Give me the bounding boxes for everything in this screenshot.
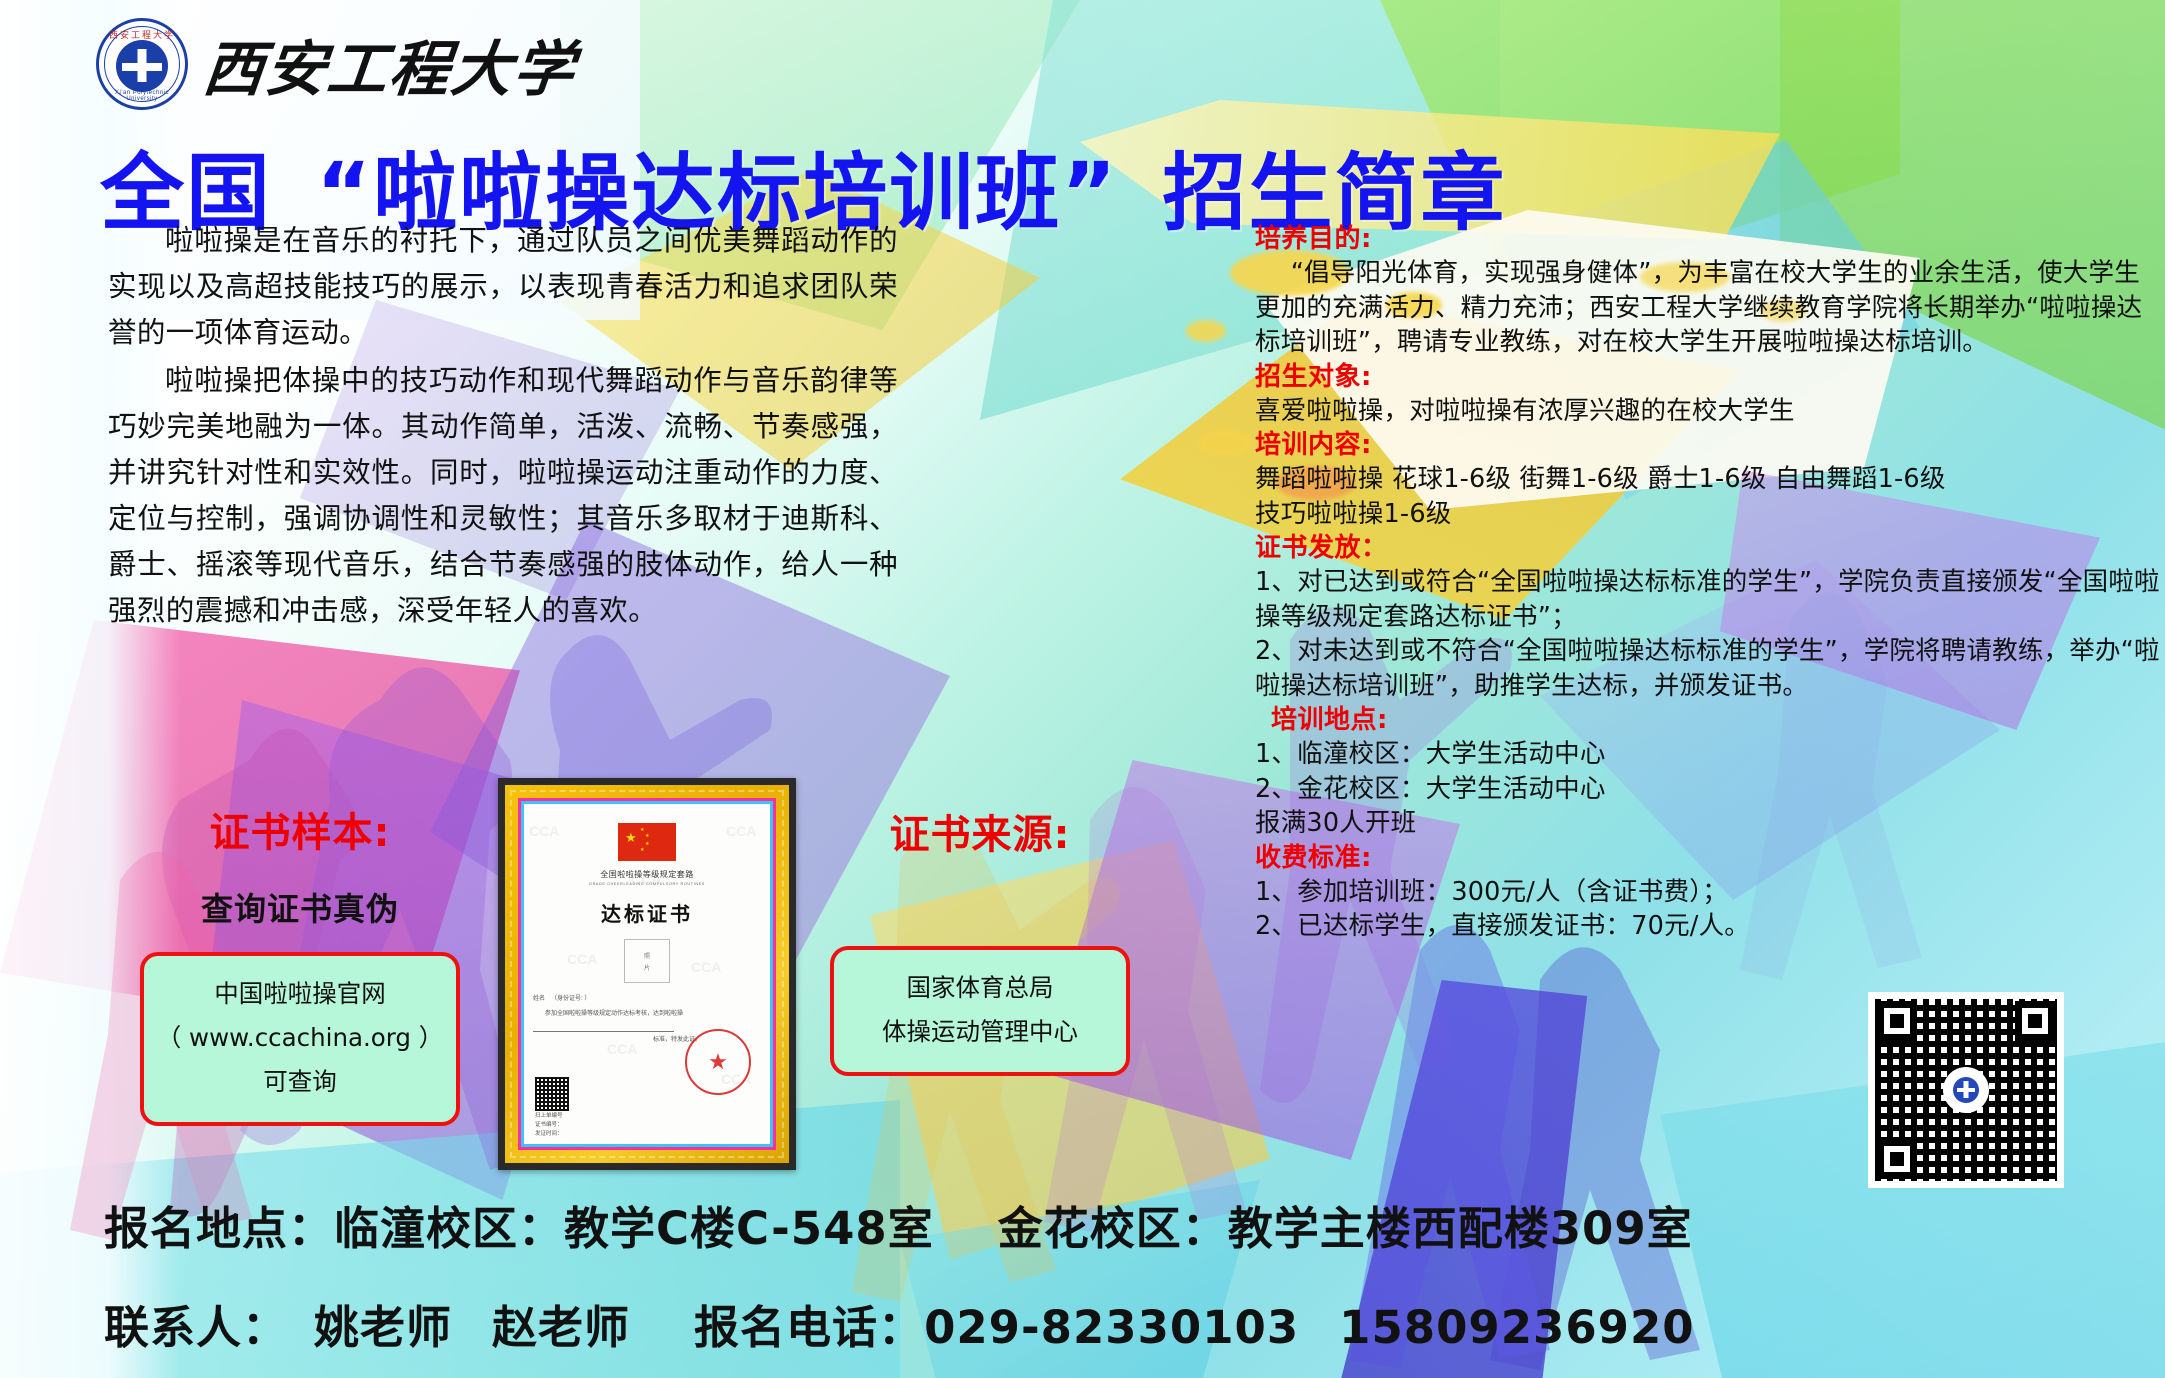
footer-phone-row: 联系人：姚老师赵老师报名电话：029-8233010315809236920 xyxy=(0,1291,2165,1356)
purpose-heading: 培养目的: xyxy=(1255,222,2165,256)
cert-footnotes: 扫上单编号 证书编号： 发证时间： xyxy=(535,1112,563,1139)
university-logo-row: 西安工程大学 Xi'an Polytechnic University 西安工程… xyxy=(96,18,576,110)
venue-note: 报满30人开班 xyxy=(1255,806,2165,841)
certificate-image: CCA CCA CCA CCA CCA CCA CCA ★ ★ ★ ★ ★ 全国… xyxy=(498,778,796,1170)
cert-watermark: CCA xyxy=(567,951,597,967)
cert-rule-line xyxy=(533,1031,674,1032)
phone-label: 报名电话： xyxy=(694,1291,924,1356)
venue-heading: 培训地点: xyxy=(1271,703,2165,737)
footer-signup-row: 报名地点：临潼校区：教学C楼C-548室金花校区：教学主楼西配楼309室 xyxy=(0,1192,2165,1257)
verify-site-name: 中国啦啦操官网 xyxy=(154,972,446,1016)
verify-site-note: 可查询 xyxy=(154,1060,446,1104)
certificate-source-box: 国家体育总局 体操运动管理中心 xyxy=(830,946,1130,1076)
certificate-verify-title: 查询证书真伪 xyxy=(140,884,460,930)
source-org-dept: 体操运动管理中心 xyxy=(844,1010,1116,1054)
intro-paragraph-2: 啦啦操把体操中的技巧动作和现代舞蹈动作与音乐韵律等巧妙完美地融为一体。其动作简单… xyxy=(108,358,898,634)
cert-description: 参加全国啦啦操等级规定动作达标考核，达到啦啦操 xyxy=(533,1008,761,1017)
cert-big-title: 达标证书 xyxy=(533,898,761,927)
university-wordmark: 西安工程大学 xyxy=(199,21,580,108)
phone-number-1[interactable]: 029-82330103 xyxy=(924,1301,1299,1354)
source-org-name: 国家体育总局 xyxy=(844,966,1116,1010)
cert-watermark: CCA xyxy=(631,871,661,887)
certificate-sample-title: 证书样本: xyxy=(140,800,460,858)
contact-person-2: 赵老师 xyxy=(492,1291,630,1356)
china-flag-icon: ★ ★ ★ ★ ★ xyxy=(618,823,676,861)
details-column: 培养目的: “倡导阳光体育，实现强身健体”，为丰富在校大学生的业余生活，使大学生… xyxy=(1255,222,2165,944)
cert-id-label: （身份证号: ） xyxy=(551,993,590,1002)
certificate-source-block: 证书来源: 国家体育总局 体操运动管理中心 xyxy=(830,802,1130,1076)
certificate-verify-box: 中国啦啦操官网 （ www.ccachina.org ） 可查询 xyxy=(140,952,460,1126)
contact-person-1: 姚老师 xyxy=(314,1291,452,1356)
fee-heading: 收费标准: xyxy=(1255,841,2165,875)
training-content-heading: 培训内容: xyxy=(1255,428,2165,462)
cert-watermark: CCA xyxy=(529,823,559,839)
venue-item-2: 2、金花校区：大学生活动中心 xyxy=(1255,772,2165,807)
cert-watermark: CCA xyxy=(607,1041,637,1057)
verify-site-url[interactable]: （ www.ccachina.org ） xyxy=(154,1016,446,1060)
signup-campus-1: 临潼校区：教学C楼C-548室 xyxy=(334,1192,934,1257)
cert-photo-placeholder: 照 片 xyxy=(624,939,670,983)
cert-date-label: 发证时间： xyxy=(535,1130,563,1139)
intro-paragraph-1: 啦啦操是在音乐的衬托下，通过队员之间优美舞蹈动作的实现以及高超技能技巧的展示，以… xyxy=(108,218,898,356)
poster-canvas: 西安工程大学 Xi'an Polytechnic University 西安工程… xyxy=(0,0,2165,1378)
cert-watermark: CCA xyxy=(726,823,756,839)
training-content-line-2: 技巧啦啦操1-6级 xyxy=(1255,497,2165,532)
purpose-body: “倡导阳光体育，实现强身健体”，为丰富在校大学生的业余生活，使大学生更加的充满活… xyxy=(1255,256,2165,360)
footer-contact: 报名地点：临潼校区：教学C楼C-548室金花校区：教学主楼西配楼309室 联系人… xyxy=(0,1192,2165,1356)
qr-logo-icon xyxy=(1943,1067,1989,1113)
university-seal-icon: 西安工程大学 Xi'an Polytechnic University xyxy=(96,18,188,110)
signup-location-label: 报名地点： xyxy=(104,1192,334,1257)
seal-bottom-text: Xi'an Polytechnic University xyxy=(99,90,185,102)
certificate-sample-block: 证书样本: 查询证书真伪 中国啦啦操官网 （ www.ccachina.org … xyxy=(140,800,460,1126)
cert-number-label: 证书编号： xyxy=(535,1121,563,1130)
phone-number-2[interactable]: 15809236920 xyxy=(1339,1301,1694,1354)
certificate-issue-heading: 证书发放： xyxy=(1255,531,2165,565)
contact-person-label: 联系人： xyxy=(104,1291,288,1356)
wechat-qr-code[interactable] xyxy=(1868,992,2064,1188)
certificate-issue-item-2: 2、对未达到或不符合“全国啦啦操达标标准的学生”，学院将聘请教练，举办“啦啦操达… xyxy=(1255,634,2165,703)
certificate-source-title: 证书来源: xyxy=(830,802,1130,860)
audience-body: 喜爱啦啦操，对啦啦操有浓厚兴趣的在校大学生 xyxy=(1255,394,2165,429)
cert-name-label: 姓名 xyxy=(533,993,545,1002)
cert-watermark: CCA xyxy=(691,959,721,975)
venue-item-1: 1、临潼校区：大学生活动中心 xyxy=(1255,737,2165,772)
cert-name-field: 姓名 （身份证号: ） xyxy=(533,993,761,1002)
fee-item-2: 2、已达标学生，直接颁发证书：70元/人。 xyxy=(1255,909,2165,944)
fee-item-1: 1、参加培训班：300元/人（含证书费）； xyxy=(1255,875,2165,910)
certificate-issue-item-1: 1、对已达到或符合“全国啦啦操达标标准的学生”，学院负责直接颁发“全国啦啦操等级… xyxy=(1255,565,2165,634)
intro-column: 啦啦操是在音乐的衬托下，通过队员之间优美舞蹈动作的实现以及高超技能技巧的展示，以… xyxy=(108,218,898,634)
signup-campus-2: 金花校区：教学主楼西配楼309室 xyxy=(998,1192,1693,1257)
cert-official-seal-icon: ★ xyxy=(685,1029,751,1095)
cert-photo-label-1: 照 xyxy=(644,951,650,960)
training-content-line-1: 舞蹈啦啦操 花球1-6级 街舞1-6级 爵士1-6级 自由舞蹈1-6级 xyxy=(1255,462,2165,497)
audience-heading: 招生对象: xyxy=(1255,360,2165,394)
cert-qr-label: 扫上单编号 xyxy=(535,1112,563,1121)
cert-photo-label-2: 片 xyxy=(644,963,650,972)
cert-qr-icon xyxy=(535,1077,569,1111)
